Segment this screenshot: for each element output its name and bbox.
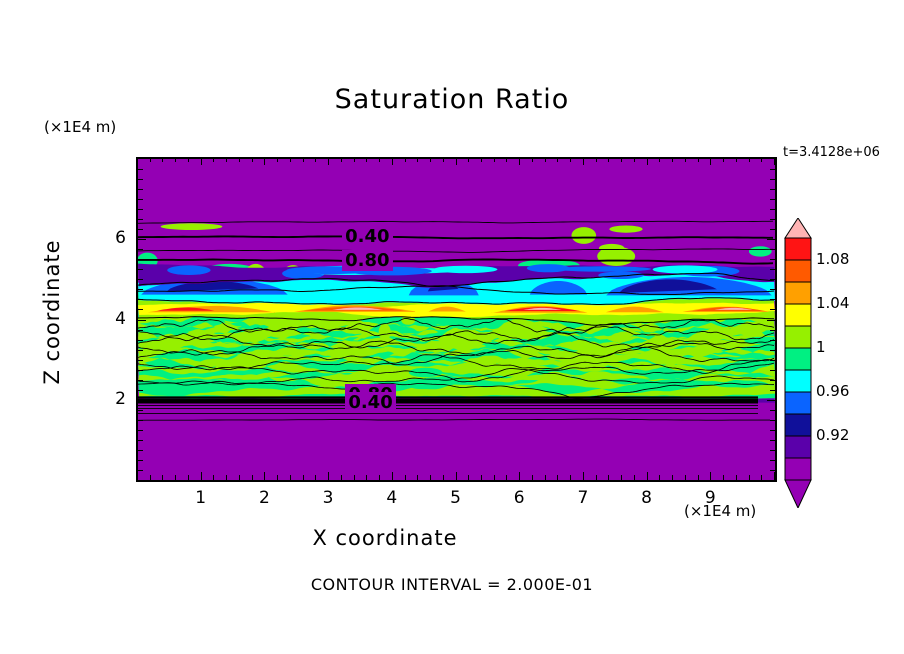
- x-minor-tick: [596, 475, 597, 480]
- x-tick-label: 1: [181, 488, 221, 508]
- x-minor-tick: [749, 475, 750, 480]
- y-minor-tick: [138, 410, 143, 411]
- timestamp-annotation: t=3.4128e+06: [783, 145, 880, 160]
- x-minor-tick-top: [481, 157, 482, 162]
- x-tick-label: 3: [308, 488, 348, 508]
- x-tick-label: 2: [244, 488, 284, 508]
- colorbar-band: [785, 260, 811, 282]
- y-minor-tick-right: [770, 370, 775, 371]
- y-minor-tick: [138, 289, 143, 290]
- y-minor-tick: [138, 209, 143, 210]
- colorbar-tick-label: 1: [816, 338, 826, 356]
- x-major-tick-top: [392, 157, 393, 165]
- x-minor-tick: [481, 475, 482, 480]
- x-minor-tick: [405, 475, 406, 480]
- x-minor-tick-top: [468, 157, 469, 162]
- colorbar-tick-label: 0.96: [816, 382, 849, 400]
- x-minor-tick: [290, 475, 291, 480]
- x-major-tick: [647, 472, 648, 480]
- y-minor-tick: [138, 430, 143, 431]
- x-tick-label: 9: [690, 488, 730, 508]
- x-minor-tick: [570, 475, 571, 480]
- colorbar-tick-label: 0.92: [816, 426, 849, 444]
- x-minor-tick: [468, 475, 469, 480]
- x-minor-tick: [150, 475, 151, 480]
- x-minor-tick-top: [226, 157, 227, 162]
- x-minor-tick: [545, 475, 546, 480]
- contour-label: 0.40: [342, 226, 392, 247]
- x-minor-tick: [672, 475, 673, 480]
- x-minor-tick-top: [366, 157, 367, 162]
- x-minor-tick-top: [672, 157, 673, 162]
- x-minor-tick: [557, 475, 558, 480]
- y-minor-tick-right: [770, 279, 775, 280]
- y-tick-label: 6: [86, 228, 126, 248]
- colorbar-tick-label: 1.08: [816, 250, 849, 268]
- y-axis-unit-label: (×1E4 m): [44, 118, 116, 136]
- x-minor-tick-top: [175, 157, 176, 162]
- x-minor-tick-top: [506, 157, 507, 162]
- y-minor-tick: [138, 239, 146, 240]
- y-minor-tick-right: [770, 420, 775, 421]
- x-minor-tick: [634, 475, 635, 480]
- y-minor-tick-right: [770, 189, 775, 190]
- y-minor-tick: [138, 340, 143, 341]
- x-minor-tick-top: [405, 157, 406, 162]
- page-title: Saturation Ratio: [0, 84, 904, 115]
- y-minor-tick: [138, 450, 143, 451]
- x-major-tick: [519, 472, 520, 480]
- colorbar-band: [785, 370, 811, 392]
- y-minor-tick-right: [767, 320, 775, 321]
- x-tick-label: 4: [372, 488, 412, 508]
- x-minor-tick: [213, 475, 214, 480]
- y-tick-label: 4: [86, 309, 126, 329]
- x-major-tick: [456, 472, 457, 480]
- contour-plot-area: 0.400.800.800.40: [136, 157, 777, 482]
- y-minor-tick: [138, 199, 143, 200]
- x-minor-tick: [175, 475, 176, 480]
- x-minor-tick: [239, 475, 240, 480]
- y-tick-label: 2: [86, 389, 126, 409]
- x-minor-tick-top: [557, 157, 558, 162]
- x-major-tick-top: [519, 157, 520, 165]
- colorbar-band: [785, 238, 811, 260]
- x-minor-tick-top: [252, 157, 253, 162]
- y-minor-tick-right: [770, 360, 775, 361]
- x-minor-tick-top: [659, 157, 660, 162]
- y-minor-tick-right: [770, 390, 775, 391]
- y-minor-tick: [138, 219, 143, 220]
- y-minor-tick-right: [770, 219, 775, 220]
- colorbar-top-arrow: [785, 218, 811, 238]
- x-minor-tick: [723, 475, 724, 480]
- x-minor-tick: [162, 475, 163, 480]
- y-minor-tick: [138, 470, 143, 471]
- x-minor-tick: [608, 475, 609, 480]
- x-major-tick-top: [328, 157, 329, 165]
- x-minor-tick: [494, 475, 495, 480]
- colorbar-band: [785, 304, 811, 326]
- x-major-tick: [264, 472, 265, 480]
- x-tick-label: 7: [563, 488, 603, 508]
- x-minor-tick: [443, 475, 444, 480]
- x-minor-tick: [761, 475, 762, 480]
- y-minor-tick: [138, 189, 143, 190]
- x-minor-tick-top: [685, 157, 686, 162]
- x-axis-title: X coordinate: [0, 526, 770, 550]
- x-minor-tick-top: [621, 157, 622, 162]
- x-minor-tick-top: [315, 157, 316, 162]
- y-minor-tick: [138, 229, 143, 230]
- x-major-tick: [774, 472, 775, 480]
- x-minor-tick: [188, 475, 189, 480]
- colorbar-band: [785, 436, 811, 458]
- x-minor-tick: [354, 475, 355, 480]
- y-minor-tick: [138, 279, 143, 280]
- x-minor-tick: [659, 475, 660, 480]
- y-minor-tick: [138, 320, 146, 321]
- y-minor-tick-right: [770, 269, 775, 270]
- x-minor-tick: [303, 475, 304, 480]
- x-minor-tick-top: [188, 157, 189, 162]
- y-minor-tick-right: [770, 249, 775, 250]
- colorbar-swatches: [783, 218, 813, 508]
- y-minor-tick-right: [770, 229, 775, 230]
- x-major-tick-top: [710, 157, 711, 165]
- x-minor-tick: [532, 475, 533, 480]
- y-minor-tick: [138, 360, 143, 361]
- x-minor-tick-top: [303, 157, 304, 162]
- x-minor-tick-top: [162, 157, 163, 162]
- x-minor-tick-top: [736, 157, 737, 162]
- y-minor-tick-right: [767, 400, 775, 401]
- x-minor-tick-top: [723, 157, 724, 162]
- x-minor-tick-top: [494, 157, 495, 162]
- y-minor-tick-right: [770, 440, 775, 441]
- y-minor-tick: [138, 299, 143, 300]
- y-minor-tick-right: [770, 259, 775, 260]
- x-minor-tick-top: [698, 157, 699, 162]
- y-minor-tick: [138, 420, 143, 421]
- x-minor-tick: [506, 475, 507, 480]
- y-minor-tick-right: [770, 470, 775, 471]
- x-minor-tick-top: [430, 157, 431, 162]
- y-minor-tick-right: [770, 340, 775, 341]
- contour-interval-note: CONTOUR INTERVAL = 2.000E-01: [0, 575, 904, 594]
- contour-label: 0.80: [342, 250, 392, 271]
- x-minor-tick-top: [596, 157, 597, 162]
- x-minor-tick-top: [354, 157, 355, 162]
- y-minor-tick: [138, 350, 143, 351]
- y-minor-tick: [138, 309, 143, 310]
- x-major-tick-top: [583, 157, 584, 165]
- y-minor-tick: [138, 269, 143, 270]
- y-minor-tick: [138, 330, 143, 331]
- y-minor-tick-right: [770, 350, 775, 351]
- y-minor-tick: [138, 179, 143, 180]
- x-tick-label: 6: [499, 488, 539, 508]
- x-major-tick-top: [647, 157, 648, 165]
- y-axis-title: Z coordinate: [40, 212, 64, 412]
- x-minor-tick-top: [213, 157, 214, 162]
- y-minor-tick-right: [770, 299, 775, 300]
- figure-canvas: Saturation Ratio (×1E4 m) (×1E4 m) t=3.4…: [0, 0, 904, 654]
- x-minor-tick: [366, 475, 367, 480]
- x-minor-tick-top: [417, 157, 418, 162]
- colorbar-band: [785, 282, 811, 304]
- x-major-tick-top: [456, 157, 457, 165]
- y-minor-tick: [138, 380, 143, 381]
- x-major-tick-top: [264, 157, 265, 165]
- x-minor-tick: [736, 475, 737, 480]
- y-minor-tick-right: [770, 430, 775, 431]
- x-minor-tick-top: [634, 157, 635, 162]
- x-minor-tick-top: [749, 157, 750, 162]
- x-minor-tick: [698, 475, 699, 480]
- x-minor-tick-top: [570, 157, 571, 162]
- y-minor-tick-right: [770, 169, 775, 170]
- x-minor-tick-top: [277, 157, 278, 162]
- x-major-tick: [392, 472, 393, 480]
- y-minor-tick-right: [770, 209, 775, 210]
- x-minor-tick: [277, 475, 278, 480]
- x-minor-tick-top: [239, 157, 240, 162]
- y-minor-tick: [138, 370, 143, 371]
- x-major-tick-top: [201, 157, 202, 165]
- x-minor-tick-top: [761, 157, 762, 162]
- x-minor-tick: [341, 475, 342, 480]
- x-major-tick: [710, 472, 711, 480]
- y-minor-tick: [138, 400, 146, 401]
- y-minor-tick-right: [770, 179, 775, 180]
- y-minor-tick-right: [770, 330, 775, 331]
- y-minor-tick: [138, 169, 143, 170]
- y-minor-tick-right: [770, 380, 775, 381]
- x-minor-tick: [621, 475, 622, 480]
- y-minor-tick: [138, 390, 143, 391]
- y-minor-tick: [138, 259, 143, 260]
- y-minor-tick: [138, 460, 143, 461]
- colorbar-band: [785, 392, 811, 414]
- y-minor-tick-right: [770, 450, 775, 451]
- y-minor-tick-right: [770, 410, 775, 411]
- x-minor-tick-top: [608, 157, 609, 162]
- x-minor-tick: [379, 475, 380, 480]
- colorbar-band: [785, 326, 811, 348]
- x-minor-tick: [315, 475, 316, 480]
- y-minor-tick: [138, 440, 143, 441]
- contour-field: [138, 159, 775, 480]
- x-minor-tick: [430, 475, 431, 480]
- x-minor-tick: [226, 475, 227, 480]
- colorbar-tick-label: 1.04: [816, 294, 849, 312]
- y-minor-tick: [138, 249, 143, 250]
- contour-label: 0.40: [345, 392, 395, 413]
- x-minor-tick-top: [545, 157, 546, 162]
- x-major-tick: [328, 472, 329, 480]
- x-minor-tick-top: [290, 157, 291, 162]
- x-minor-tick-top: [150, 157, 151, 162]
- x-tick-label: 8: [627, 488, 667, 508]
- x-major-tick: [583, 472, 584, 480]
- y-minor-tick-right: [770, 309, 775, 310]
- x-minor-tick: [685, 475, 686, 480]
- x-minor-tick-top: [379, 157, 380, 162]
- x-major-tick-top: [774, 157, 775, 165]
- y-minor-tick-right: [770, 199, 775, 200]
- x-major-tick: [201, 472, 202, 480]
- x-minor-tick-top: [341, 157, 342, 162]
- colorbar-band: [785, 458, 811, 480]
- y-minor-tick-right: [770, 289, 775, 290]
- x-minor-tick: [417, 475, 418, 480]
- x-minor-tick-top: [443, 157, 444, 162]
- y-minor-tick-right: [767, 239, 775, 240]
- colorbar-band: [785, 348, 811, 370]
- x-tick-label: 5: [436, 488, 476, 508]
- y-minor-tick-right: [770, 460, 775, 461]
- x-minor-tick-top: [532, 157, 533, 162]
- x-minor-tick: [252, 475, 253, 480]
- colorbar: 1.081.0410.960.92: [783, 218, 813, 512]
- colorbar-band: [785, 414, 811, 436]
- colorbar-bottom-arrow: [785, 480, 811, 508]
